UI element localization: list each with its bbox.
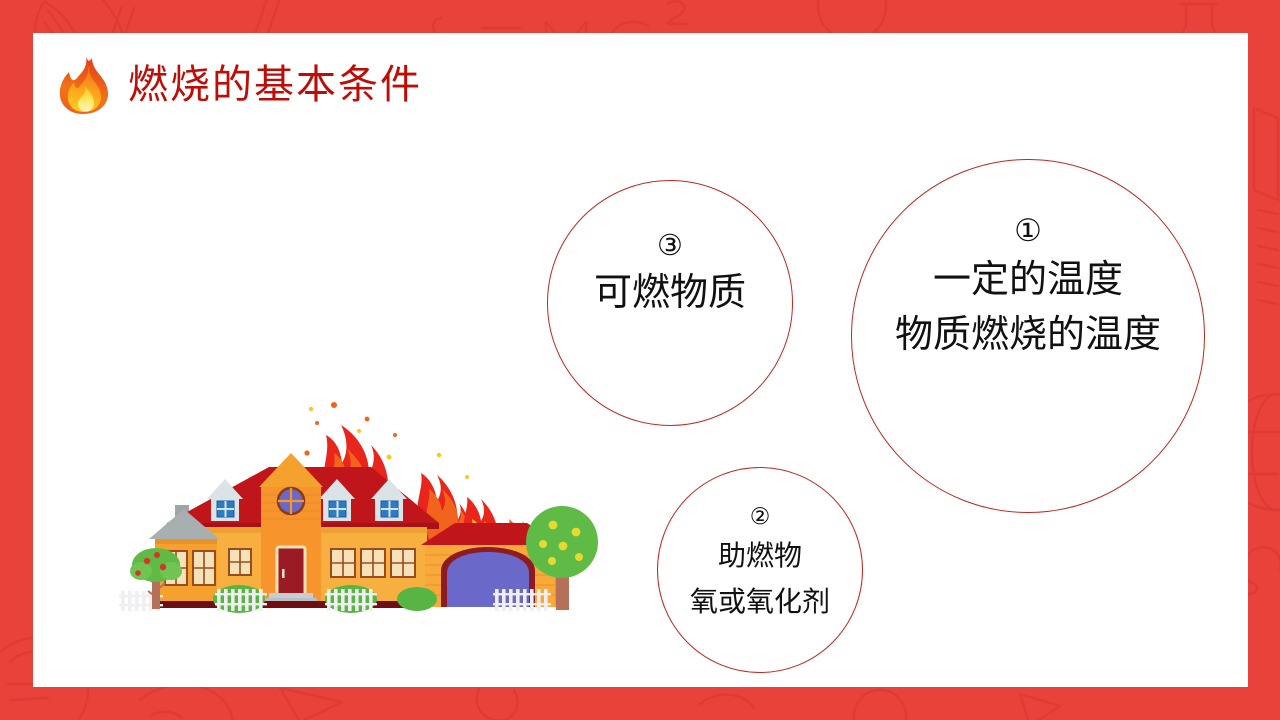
- flame-icon: [58, 55, 110, 115]
- condition-circle-3[interactable]: ③ 可燃物质: [547, 180, 793, 426]
- burning-house-illustration: [119, 327, 629, 627]
- condition-line-2-1: 助燃物: [718, 536, 802, 576]
- condition-circle-2[interactable]: ② 助燃物 氧或氧化剂: [657, 467, 863, 673]
- condition-number-2: ②: [750, 504, 771, 530]
- condition-line-1-1: 一定的温度: [933, 254, 1123, 305]
- house-group: [149, 453, 561, 608]
- condition-line-1-2: 物质燃烧的温度: [895, 309, 1161, 360]
- condition-circle-1[interactable]: ① 一定的温度 物质燃烧的温度: [851, 159, 1205, 513]
- page-title: 燃烧的基本条件: [128, 65, 422, 105]
- condition-line-2-2: 氧或氧化剂: [690, 582, 830, 622]
- content-card: 燃烧的基本条件: [33, 33, 1248, 687]
- slide-root: 燃烧的基本条件: [0, 0, 1280, 720]
- slide-header: 燃烧的基本条件: [58, 55, 422, 115]
- condition-line-3-1: 可燃物质: [594, 268, 746, 317]
- right-windows: [331, 549, 415, 577]
- condition-number-1: ①: [1014, 214, 1042, 250]
- condition-number-3: ③: [657, 229, 683, 262]
